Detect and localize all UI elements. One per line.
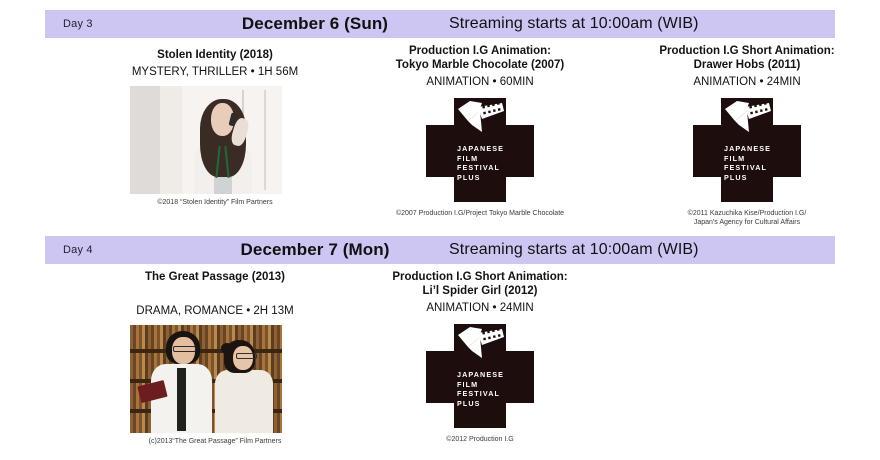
jff-logo-text: JAPANESE FILM FESTIVAL PLUS	[724, 144, 771, 182]
poster-figure-man-glasses	[173, 346, 196, 352]
day-number-label: Day 4	[45, 244, 215, 256]
film-title: Stolen Identity (2018)	[130, 48, 300, 62]
jff-logo: JAPANESE FILM FESTIVAL PLUS	[693, 98, 801, 202]
poster-great-passage	[130, 325, 282, 433]
poster-bg-wall-left	[130, 86, 160, 194]
streaming-time-label: Streaming starts at 10:00am (WIB)	[415, 241, 835, 259]
jff-logo-text: JAPANESE FILM FESTIVAL PLUS	[457, 370, 504, 408]
day-header-bar-day-4: Day 4 December 7 (Mon) Streaming starts …	[45, 236, 835, 264]
film-meta: MYSTERY, THRILLER • 1H 56M	[130, 65, 300, 80]
film-meta: ANIMATION • 24MIN	[372, 301, 588, 316]
origami-crane-icon	[456, 327, 504, 361]
film-meta: DRAMA, ROMANCE • 2H 13M	[130, 304, 300, 319]
film-artwork[interactable]: JAPANESE FILM FESTIVAL PLUS	[372, 324, 588, 428]
film-meta: ANIMATION • 60MIN	[372, 75, 588, 90]
film-title: Production I.G Animation: Tokyo Marble C…	[372, 44, 588, 72]
film-title: The Great Passage (2013)	[130, 270, 300, 284]
film-artwork[interactable]	[130, 86, 300, 194]
film-credit: (c)2013“The Great Passage” Film Partners	[130, 437, 300, 446]
film-artwork[interactable]: JAPANESE FILM FESTIVAL PLUS	[634, 98, 860, 202]
film-title: Production I.G Short Animation: Li’l Spi…	[372, 270, 588, 298]
film-card-lil-spider-girl[interactable]: Production I.G Short Animation: Li’l Spi…	[372, 270, 588, 444]
day-date-label: December 7 (Mon)	[215, 240, 415, 260]
film-card-the-great-passage[interactable]: The Great Passage (2013) DRAMA, ROMANCE …	[130, 270, 300, 446]
jff-logo: JAPANESE FILM FESTIVAL PLUS	[426, 98, 534, 202]
poster-stolen-identity	[130, 86, 282, 194]
poster-shelf-line-1	[130, 349, 282, 353]
streaming-time-label: Streaming starts at 10:00am (WIB)	[415, 15, 835, 33]
film-credit: ©2011 Kazuchika Kise/Production I.G/ Jap…	[634, 209, 860, 227]
film-title: Production I.G Short Animation: Drawer H…	[634, 44, 860, 72]
film-artwork[interactable]: JAPANESE FILM FESTIVAL PLUS	[372, 98, 588, 202]
day-date-label: December 6 (Sun)	[215, 14, 415, 34]
film-artwork[interactable]	[130, 325, 300, 433]
film-meta: ANIMATION • 24MIN	[634, 75, 860, 90]
day-number-label: Day 3	[45, 18, 215, 30]
festival-schedule: Day 3 December 6 (Sun) Streaming starts …	[0, 0, 880, 460]
poster-bg-frame-2	[264, 90, 266, 189]
film-card-drawer-hobs[interactable]: Production I.G Short Animation: Drawer H…	[634, 44, 860, 227]
jff-logo-text: JAPANESE FILM FESTIVAL PLUS	[457, 144, 504, 182]
jff-logo: JAPANESE FILM FESTIVAL PLUS	[426, 324, 534, 428]
origami-crane-icon	[456, 101, 504, 135]
day-header-bar-day-3: Day 3 December 6 (Sun) Streaming starts …	[45, 10, 835, 38]
origami-crane-icon	[723, 101, 771, 135]
poster-figure-woman-glasses	[236, 353, 256, 359]
poster-figure-man-tie	[177, 368, 186, 431]
film-credit: ©2007 Production I.G/Project Tokyo Marbl…	[372, 209, 588, 218]
film-card-tokyo-marble-chocolate[interactable]: Production I.G Animation: Tokyo Marble C…	[372, 44, 588, 218]
poster-bg-wall-mid	[160, 86, 181, 194]
poster-figure-woman-body	[215, 370, 273, 433]
film-credit: ©2012 Production I.G	[372, 435, 588, 444]
film-credit: ©2018 “Stolen Identity” Film Partners	[130, 198, 300, 207]
film-card-stolen-identity[interactable]: Stolen Identity (2018) MYSTERY, THRILLER…	[130, 48, 300, 207]
